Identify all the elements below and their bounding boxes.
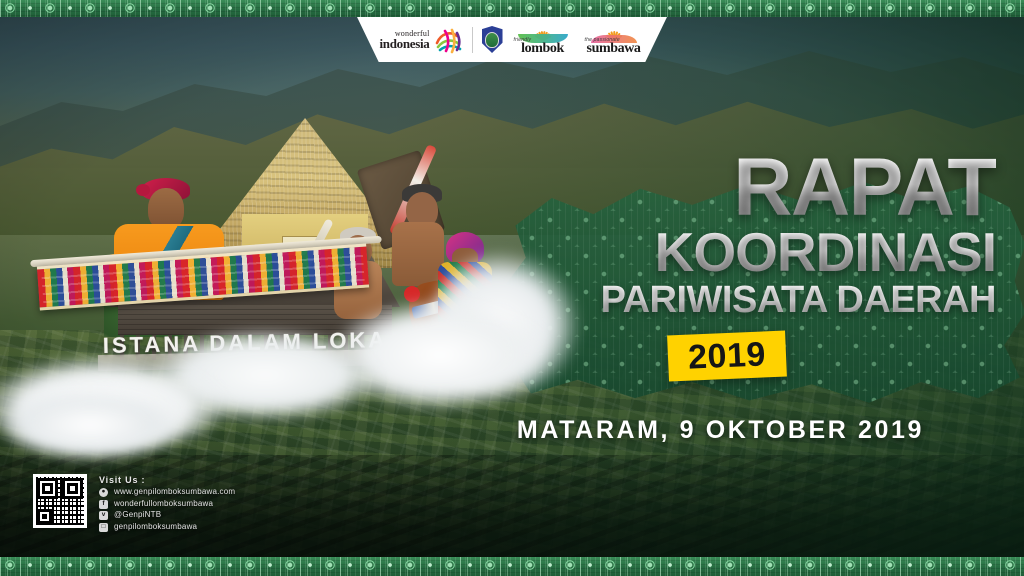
wonderful-indonesia-logo: wonderful indonesia (379, 25, 462, 55)
qr-code-pattern (36, 477, 84, 525)
twitter-label: @GenpiNTB (114, 511, 161, 520)
poster-canvas: ISTANA DALAM LOKA (0, 0, 1024, 576)
sumbawa-wordmark: sumbawa (583, 42, 645, 56)
horse-pompom (404, 286, 420, 302)
logo-divider (472, 27, 473, 53)
facebook-label: wonderfullomboksumbawa (114, 500, 213, 509)
title-line-2: KOORDINASI (601, 226, 996, 278)
sumbawa-logo: the passionate sumbawa (583, 24, 645, 56)
qr-code[interactable] (33, 474, 87, 528)
instagram-label: genpilomboksumbawa (114, 523, 197, 532)
title-line-1: RAPAT (601, 152, 996, 224)
qr-finder-bottom-left (37, 509, 52, 524)
province-shield (482, 26, 503, 53)
cloud-5 (0, 390, 180, 460)
wonderful-indonesia-wordmark: wonderful indonesia (379, 30, 429, 50)
logo-bar: wonderful indonesia (357, 17, 667, 62)
title-line-3: PARIWISATA DAERAH (601, 281, 996, 319)
twitter-icon: ᴠ (99, 511, 108, 520)
contact-row-instagram[interactable]: □ genpilomboksumbawa (99, 523, 235, 532)
contact-row-facebook[interactable]: f wonderfullomboksumbawa (99, 500, 235, 509)
facebook-icon: f (99, 500, 108, 509)
website-label: www.genpilomboksumbawa.com (114, 488, 235, 497)
wonderful-indonesia-mark-icon (433, 25, 463, 55)
ntb-province-emblem-icon (482, 26, 503, 53)
visit-us-heading: Visit Us : (99, 475, 235, 485)
lombok-wordmark: lombok (512, 42, 574, 56)
friendly-lombok-logo: friendly lombok (512, 24, 574, 56)
songket-border-top (0, 0, 1024, 17)
contact-text-block: Visit Us : ● www.genpilomboksumbawa.com … (99, 474, 235, 534)
headline-block: RAPAT KOORDINASI PARIWISATA DAERAH (601, 152, 996, 319)
year-badge: 2019 (667, 331, 787, 382)
contact-row-website[interactable]: ● www.genpilomboksumbawa.com (99, 488, 235, 497)
year-badge-text: 2019 (687, 337, 766, 374)
globe-icon: ● (99, 488, 108, 497)
event-date-location: MATARAM, 9 OKTOBER 2019 (517, 416, 924, 445)
songket-border-bottom (0, 557, 1024, 576)
indonesia-word: indonesia (379, 37, 429, 50)
province-shield-inner (485, 32, 499, 48)
instagram-icon: □ (99, 523, 108, 532)
contact-row-twitter[interactable]: ᴠ @GenpiNTB (99, 511, 235, 520)
contact-block: Visit Us : ● www.genpilomboksumbawa.com … (33, 474, 235, 534)
